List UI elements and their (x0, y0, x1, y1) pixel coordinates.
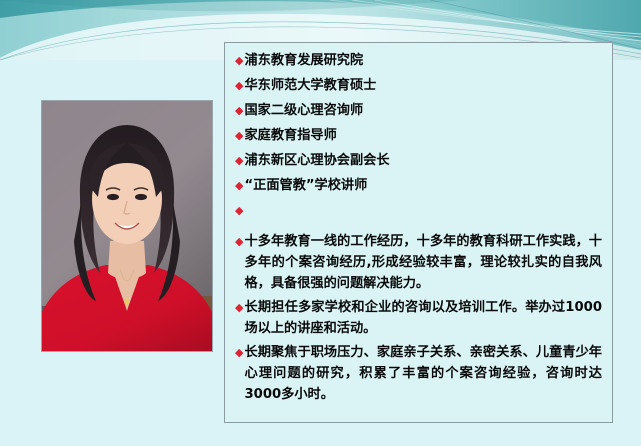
list-item: ◆ 浦东新区心理协会副会长 (235, 151, 602, 172)
list-item: ◆ “正面管教”学校讲师 (235, 176, 602, 197)
credentials-text-panel: ◆ 浦东教育发展研究院 ◆ 华东师范大学教育硕士 ◆ 国家二级心理咨询师 ◆ 家… (224, 42, 613, 423)
diamond-bullet-icon: ◆ (235, 101, 243, 122)
list-item: ◆ 华东师范大学教育硕士 (235, 76, 602, 97)
diamond-bullet-icon: ◆ (235, 297, 243, 318)
diamond-bullet-icon: ◆ (235, 176, 243, 197)
portrait-photo (41, 100, 213, 352)
list-item-label: 长期担任多家学校和企业的咨询以及培训工作。举办过1000场以上的讲座和活动。 (244, 297, 602, 339)
list-item: ◆ 国家二级心理咨询师 (235, 101, 602, 122)
diamond-bullet-icon: ◆ (235, 151, 243, 172)
list-item: ◆ 浦东教育发展研究院 (235, 51, 602, 72)
list-item-label: 浦东教育发展研究院 (244, 51, 602, 72)
list-item-paragraph: ◆ 长期聚焦于职场压力、家庭亲子关系、亲密关系、儿童青少年心理问题的研究，积累了… (235, 342, 602, 405)
list-item-label: 长期聚焦于职场压力、家庭亲子关系、亲密关系、儿童青少年心理问题的研究，积累了丰富… (244, 342, 602, 405)
list-item-label: 华东师范大学教育硕士 (244, 76, 602, 97)
list-item-empty: ◆ (235, 201, 602, 222)
diamond-bullet-icon: ◆ (235, 201, 243, 222)
presentation-slide: ◆ 浦东教育发展研究院 ◆ 华东师范大学教育硕士 ◆ 国家二级心理咨询师 ◆ 家… (0, 0, 641, 446)
list-item-label: 家庭教育指导师 (244, 126, 602, 147)
list-item-label: 十多年教育一线的工作经历，十多年的教育科研工作实践，十多年的个案咨询经历,形成经… (244, 231, 602, 294)
diamond-bullet-icon: ◆ (235, 76, 243, 97)
list-item-label: 国家二级心理咨询师 (244, 101, 602, 122)
list-item-paragraph: ◆ 长期担任多家学校和企业的咨询以及培训工作。举办过1000场以上的讲座和活动。 (235, 297, 602, 339)
diamond-bullet-icon: ◆ (235, 342, 243, 363)
list-item: ◆ 家庭教育指导师 (235, 126, 602, 147)
list-item-label: 浦东新区心理协会副会长 (244, 151, 602, 172)
diamond-bullet-icon: ◆ (235, 51, 243, 72)
list-item-label: “正面管教”学校讲师 (244, 176, 602, 197)
diamond-bullet-icon: ◆ (235, 231, 243, 252)
diamond-bullet-icon: ◆ (235, 126, 243, 147)
list-item-label (244, 201, 602, 202)
list-item-paragraph: ◆ 十多年教育一线的工作经历，十多年的教育科研工作实践，十多年的个案咨询经历,形… (235, 231, 602, 294)
